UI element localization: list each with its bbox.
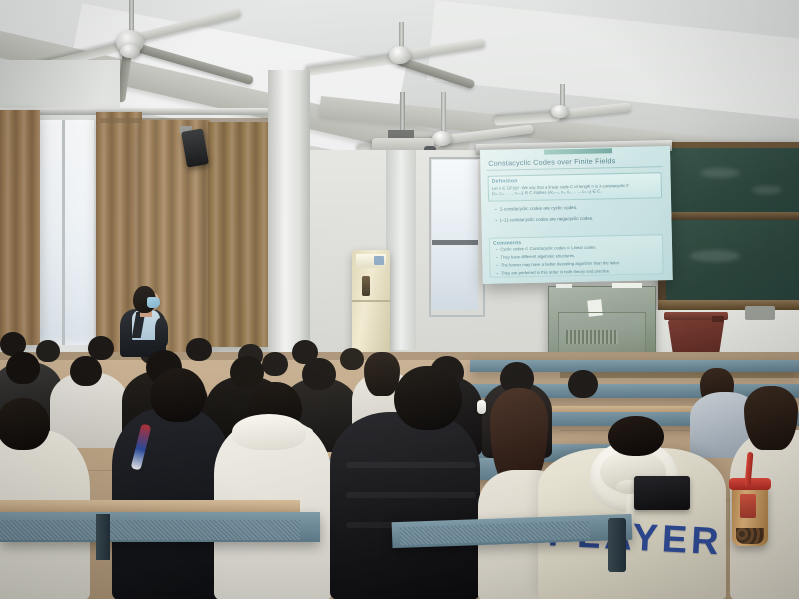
student-head — [568, 370, 598, 398]
window-left — [36, 120, 94, 345]
chalk-smudge — [752, 186, 782, 194]
boba-pearls — [736, 528, 764, 544]
desk-mesh-panel — [0, 520, 300, 540]
puffer-seam — [346, 492, 476, 498]
face-mask-icon — [147, 297, 160, 308]
slide-header-bar — [544, 148, 612, 154]
student-head — [230, 356, 264, 388]
student-head — [394, 366, 462, 430]
fan-hub — [432, 131, 452, 146]
cup-label — [740, 494, 756, 518]
student-head — [744, 386, 798, 450]
lectern-notch — [712, 316, 724, 322]
chalk-tray — [658, 300, 799, 310]
chalk-smudge — [700, 168, 740, 178]
student-head — [302, 358, 336, 390]
projection-screen: Constacyclic Codes over Finite Fields De… — [480, 146, 673, 284]
slide-bullet: (−1)-constacyclic codes are negacyclic c… — [495, 216, 593, 224]
chalkboard-lower-panel — [666, 220, 799, 302]
slide: Constacyclic Codes over Finite Fields De… — [480, 146, 673, 284]
cabinet-vent-icon — [566, 330, 618, 344]
student-head — [70, 356, 102, 386]
fan-hub — [389, 46, 411, 64]
ac-display-icon — [362, 276, 370, 296]
cabinet-paper — [556, 284, 572, 288]
lecturer-arm — [155, 318, 168, 346]
chalkboard-upper-panel — [666, 148, 799, 216]
desk-leg — [96, 514, 110, 560]
desk-leg — [608, 518, 626, 572]
lecture-hall-photo: Constacyclic Codes over Finite Fields De… — [0, 0, 799, 599]
ac-seam — [352, 300, 390, 302]
pillar — [386, 150, 416, 350]
hoodie-hood — [232, 414, 306, 450]
student-head — [150, 368, 206, 422]
student-head — [36, 340, 60, 362]
curtain — [0, 110, 40, 345]
curtain — [208, 122, 274, 347]
bag — [634, 476, 690, 510]
definition-block: Definition Let λ ∈ GF(q)*. We say that a… — [488, 172, 663, 202]
fan-light — [120, 44, 140, 58]
student-head — [6, 352, 40, 384]
student-head — [608, 416, 664, 456]
chalk-smudge — [690, 250, 740, 262]
ac-badge-icon — [374, 256, 384, 265]
student-head — [186, 338, 212, 361]
slide-bullet: 1-constacyclic codes are cyclic codes. — [495, 205, 577, 213]
window-bar — [432, 240, 478, 245]
cabinet-paper — [612, 283, 642, 288]
fan-pole — [441, 92, 446, 136]
chalkboard-divider — [660, 212, 799, 220]
fan-hub — [551, 105, 569, 118]
window-mullion — [62, 120, 65, 345]
window-frame — [429, 157, 485, 317]
student-body — [330, 412, 480, 599]
wall-vent-icon — [745, 306, 775, 320]
puffer-seam — [346, 462, 476, 468]
earbud-icon — [477, 400, 486, 414]
student-head — [0, 398, 50, 450]
student-head — [340, 348, 364, 370]
comment-bullet: They are preferred in this order in both… — [497, 268, 611, 277]
student-head — [262, 352, 288, 376]
slide-title: Constacyclic Codes over Finite Fields — [488, 156, 615, 168]
